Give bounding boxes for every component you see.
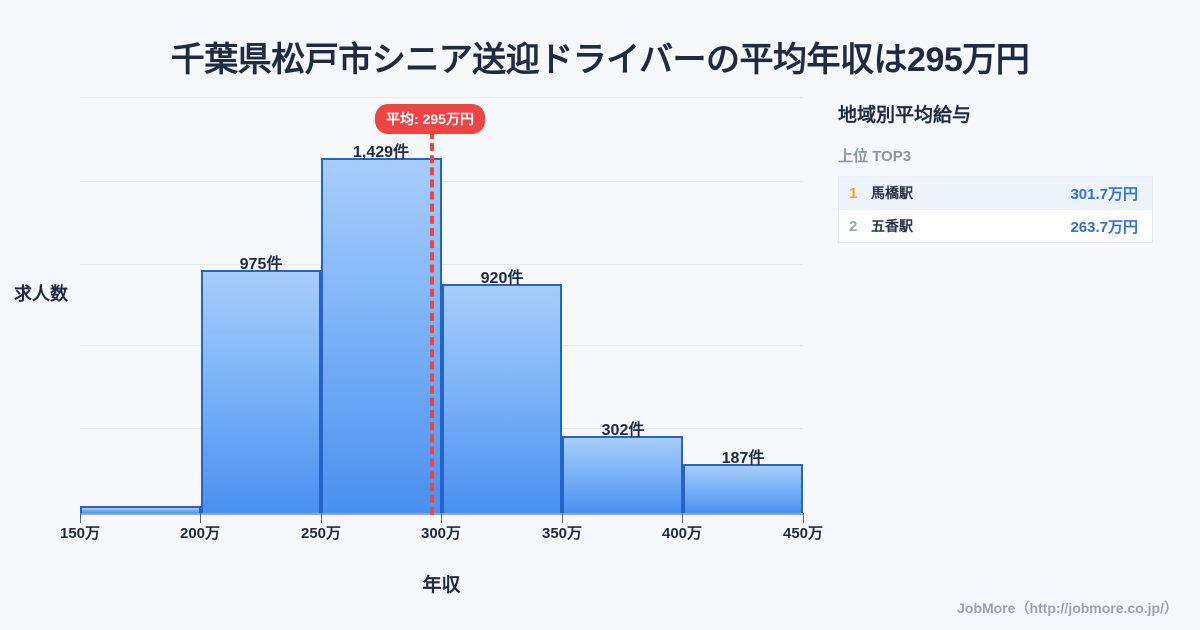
bar-value-label: 187件 [722, 444, 765, 468]
x-axis-title: 年収 [80, 570, 803, 597]
rank-area-name: 馬橋駅 [871, 183, 1070, 203]
side-panel-subtitle: 上位 TOP3 [838, 145, 1168, 166]
histogram-bar[interactable] [442, 284, 563, 513]
histogram-bar[interactable] [80, 506, 201, 513]
y-axis-title: 求人数 [14, 280, 68, 306]
ranking-table: 1 馬橋駅 301.7万円 2 五香駅 263.7万円 [838, 176, 1153, 243]
histogram-bar[interactable] [201, 270, 322, 513]
bar-value-label: 975件 [240, 250, 283, 274]
histogram-bar[interactable] [683, 464, 804, 513]
x-tick-label: 450万 [783, 522, 823, 543]
rank-salary-value: 263.7万円 [1070, 216, 1138, 237]
x-tick-label: 300万 [421, 522, 461, 543]
side-panel: 地域別平均給与 上位 TOP3 1 馬橋駅 301.7万円 2 五香駅 263.… [838, 100, 1168, 243]
rank-salary-value: 301.7万円 [1070, 183, 1138, 204]
bars-layer [80, 85, 803, 515]
side-panel-title: 地域別平均給与 [838, 100, 1168, 127]
footer-watermark: JobMore（http://jobmore.co.jp/） [957, 598, 1178, 618]
histogram-bar[interactable] [321, 158, 442, 513]
bar-value-label: 920件 [481, 264, 524, 288]
x-tick-label: 150万 [60, 522, 100, 543]
rank-area-name: 五香駅 [871, 216, 1070, 236]
rank-number: 1 [849, 185, 871, 202]
x-tick-label: 400万 [662, 522, 702, 543]
bar-value-label: 302件 [602, 416, 645, 440]
histogram-bar[interactable] [562, 436, 683, 513]
bar-value-label: 1,429件 [353, 138, 409, 162]
average-badge: 平均: 295万円 [375, 104, 485, 134]
page-title: 千葉県松戸市シニア送迎ドライバーの平均年収は295万円 [0, 32, 1200, 81]
table-row[interactable]: 2 五香駅 263.7万円 [839, 209, 1152, 242]
x-tick-label: 200万 [180, 522, 220, 543]
table-row[interactable]: 1 馬橋駅 301.7万円 [839, 176, 1152, 209]
x-tick-label: 250万 [301, 522, 341, 543]
average-line [430, 131, 434, 515]
rank-number: 2 [849, 218, 871, 235]
x-tick-label: 350万 [542, 522, 582, 543]
